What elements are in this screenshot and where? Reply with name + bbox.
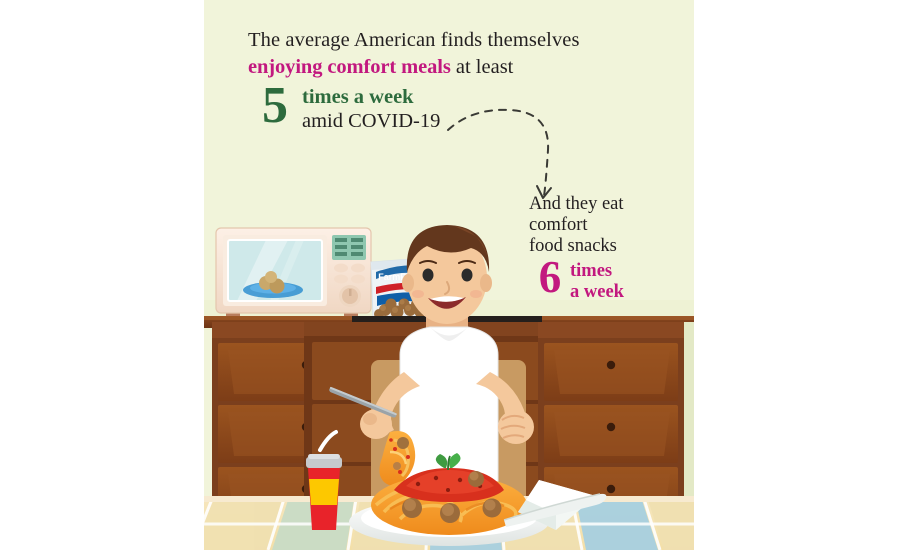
headline-tail: at least <box>451 56 514 78</box>
screenshot-canvas: FarmRich <box>0 0 900 550</box>
headline-line-1: The average American finds themselves <box>248 30 668 52</box>
stat-six-group: 6 times a week <box>529 258 679 302</box>
callout-block: And they eat comfort food snacks 6 times… <box>529 194 679 302</box>
stat-five-label: times a week <box>302 86 440 109</box>
stat-five-group: 5 times a week amid COVID-19 <box>248 84 668 133</box>
stat-six-text: times a week <box>570 258 624 302</box>
stat-six-label-line-1: times <box>570 261 624 281</box>
headline-block: The average American finds themselves en… <box>248 30 668 134</box>
stat-six-label-line-2: a week <box>570 282 624 302</box>
stat-five-text: times a week amid COVID-19 <box>302 84 440 133</box>
infographic-panel: FarmRich <box>204 0 694 550</box>
headline-highlight: enjoying comfort meals <box>248 56 451 78</box>
stat-six-number: 6 <box>535 258 565 298</box>
stat-five-sublabel: amid COVID-19 <box>302 109 440 133</box>
callout-line-1: And they eat <box>529 194 679 215</box>
headline-line-2: enjoying comfort meals at least <box>248 57 668 79</box>
callout-line-2: comfort <box>529 215 679 236</box>
stat-five-number: 5 <box>254 84 296 129</box>
